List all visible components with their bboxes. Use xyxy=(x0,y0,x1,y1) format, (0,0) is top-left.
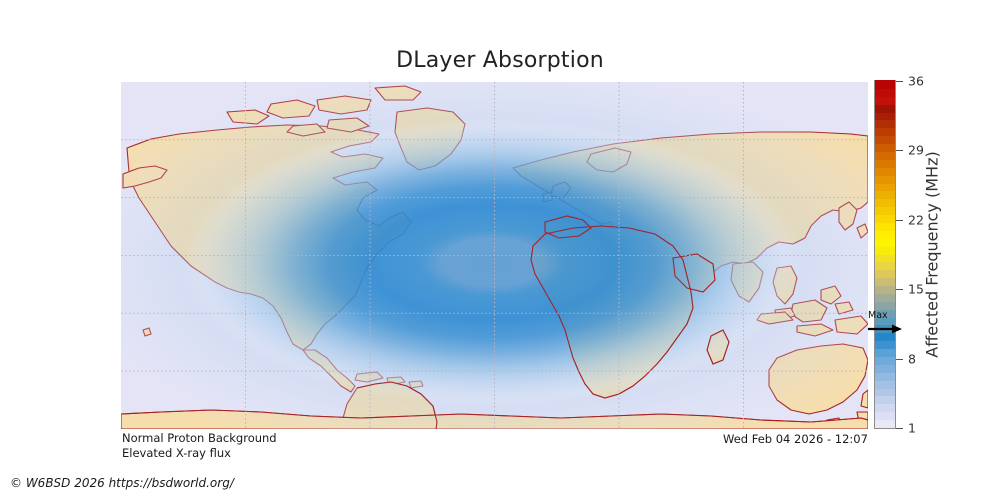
colorbar-segment xyxy=(875,183,895,191)
colorbar-segment xyxy=(875,341,895,349)
colorbar-segment xyxy=(875,214,895,222)
chart-title: DLayer Absorption xyxy=(0,48,1000,73)
colorbar-segment xyxy=(875,349,895,357)
colorbar-segment xyxy=(875,356,895,364)
colorbar-segment xyxy=(875,388,895,396)
colorbar-segment xyxy=(875,175,895,183)
colorbar-segment xyxy=(875,207,895,215)
proton-status-note: Normal Proton Background xyxy=(122,431,277,445)
map-axes xyxy=(121,82,868,429)
colorbar-segment xyxy=(875,278,895,286)
credit-line: © W6BSD 2026 https://bsdworld.org/ xyxy=(10,476,234,490)
colorbar-segment xyxy=(875,380,895,388)
colorbar-segment xyxy=(875,199,895,207)
max-marker: Max xyxy=(866,310,906,340)
colorbar-segment xyxy=(875,238,895,246)
colorbar-segment xyxy=(875,246,895,254)
colorbar-segment xyxy=(875,144,895,152)
colorbar-segment xyxy=(875,104,895,112)
colorbar-tick xyxy=(896,220,903,221)
colorbar-axis-label-text: Affected Frequency (MHz) xyxy=(923,151,942,357)
colorbar-segment xyxy=(875,136,895,144)
colorbar-segment xyxy=(875,128,895,136)
colorbar-tick xyxy=(896,359,903,360)
colorbar: 1815222936 xyxy=(874,80,896,429)
max-arrow-icon xyxy=(868,324,902,334)
colorbar-segment xyxy=(875,167,895,175)
colorbar-tick xyxy=(896,150,903,151)
colorbar-segment xyxy=(875,270,895,278)
colorbar-segment xyxy=(875,364,895,372)
colorbar-segment xyxy=(875,112,895,120)
colorbar-segment xyxy=(875,88,895,96)
colorbar-segment xyxy=(875,293,895,301)
world-map xyxy=(121,82,868,429)
timestamp: Wed Feb 04 2026 - 12:07 xyxy=(723,432,868,446)
colorbar-segment xyxy=(875,396,895,404)
colorbar-segment xyxy=(875,420,895,428)
colorbar-segment xyxy=(875,80,895,88)
colorbar-segment xyxy=(875,254,895,262)
colorbar-segment xyxy=(875,96,895,104)
colorbar-segment xyxy=(875,412,895,420)
colorbar-segment xyxy=(875,372,895,380)
colorbar-axis-label: Affected Frequency (MHz) xyxy=(921,80,943,429)
colorbar-segment xyxy=(875,222,895,230)
xray-status-note: Elevated X-ray flux xyxy=(122,446,231,460)
max-marker-label: Max xyxy=(868,310,888,321)
colorbar-segment xyxy=(875,120,895,128)
colorbar-tick xyxy=(896,428,903,429)
colorbar-tick-label: 8 xyxy=(908,351,916,366)
colorbar-segment xyxy=(875,151,895,159)
colorbar-gradient xyxy=(874,80,896,429)
colorbar-segment xyxy=(875,191,895,199)
colorbar-segment xyxy=(875,285,895,293)
colorbar-segment xyxy=(875,301,895,309)
colorbar-tick-label: 1 xyxy=(908,421,916,436)
colorbar-segment xyxy=(875,262,895,270)
colorbar-segment xyxy=(875,230,895,238)
colorbar-tick xyxy=(896,289,903,290)
colorbar-segment xyxy=(875,159,895,167)
colorbar-tick xyxy=(896,81,903,82)
colorbar-segment xyxy=(875,404,895,412)
